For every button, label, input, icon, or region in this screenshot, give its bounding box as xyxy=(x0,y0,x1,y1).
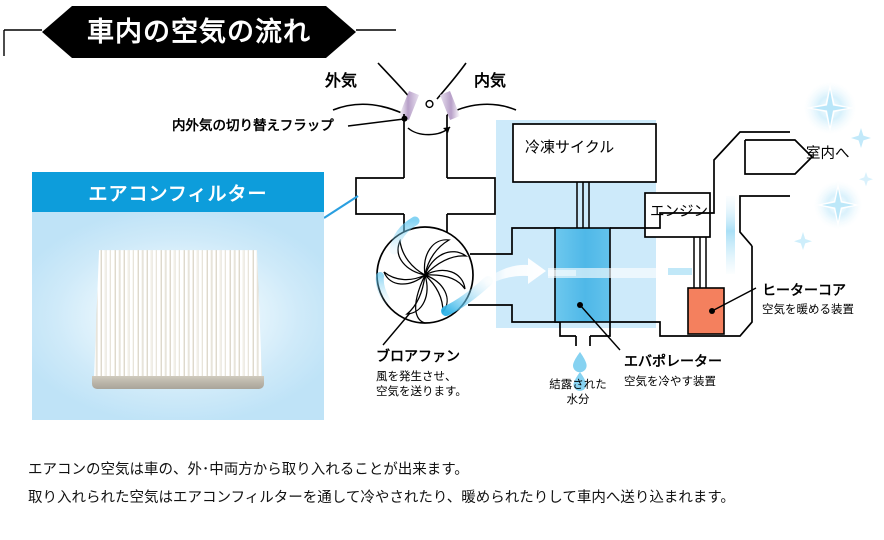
title-banner: 車内の空気の流れ xyxy=(42,6,356,58)
airflow-mark-heater xyxy=(668,268,692,275)
leader-flap xyxy=(348,119,404,126)
sparkle-icon-mini xyxy=(859,172,873,186)
caption-block: エアコンの空気は車の、外･中両方から取り入れることが出来ます。 取り入れられた空… xyxy=(28,456,868,513)
label-evaporator-description: 空気を冷やす装置 xyxy=(624,374,716,389)
sparkle-cluster xyxy=(794,82,873,250)
caption-line-1: エアコンの空気は車の、外･中両方から取り入れることが出来ます。 xyxy=(28,456,868,484)
hvac-housing xyxy=(356,114,495,236)
heater-core-body xyxy=(688,288,724,334)
label-evaporator: エバポレーター xyxy=(624,353,722,371)
page-title: 車内の空気の流れ xyxy=(87,19,311,46)
sparkle-icon-large-bottom xyxy=(814,181,862,229)
filter-frame-edge xyxy=(92,376,264,389)
filter-element-image xyxy=(94,250,262,390)
sparkle-icon-large-top xyxy=(804,82,856,134)
cabin-outlet-vents xyxy=(745,140,812,174)
flap-inside-air xyxy=(440,91,460,120)
sparkle-icon-small-top xyxy=(851,128,871,148)
intake-flaps xyxy=(399,91,460,135)
air-filter-photo xyxy=(32,212,324,420)
label-outside-air: 外気 xyxy=(325,70,357,91)
diagram-stage: 車内の空気の流れ エアコンフィルター 外気 内気 内外気の切り替えフラップ 冷凍… xyxy=(0,0,884,540)
condensate-line-2: 水分 xyxy=(567,392,590,406)
label-intake-flap: 内外気の切り替えフラップ xyxy=(172,118,334,136)
label-heater-core: ヒーターコア xyxy=(762,282,846,300)
leader-filter-callout xyxy=(324,196,358,218)
label-blower-fan: ブロアファン xyxy=(376,348,460,366)
label-heater-core-description: 空気を暖める装置 xyxy=(762,302,854,317)
blower-desc-line-2: 空気を送ります。 xyxy=(376,384,467,398)
sparkle-icon-small-bottom xyxy=(794,232,812,250)
air-filter-card-title: エアコンフィルター xyxy=(88,179,267,206)
label-engine: エンジン xyxy=(650,203,708,222)
airflow-stream-to-cabin xyxy=(726,196,735,274)
label-refrigeration-cycle: 冷凍サイクル xyxy=(525,138,614,158)
air-filter-card-header: エアコンフィルター xyxy=(32,172,324,212)
filter-pleats xyxy=(94,250,262,378)
label-inside-air: 内気 xyxy=(474,70,506,91)
condensate-line-1: 結露された xyxy=(549,377,607,391)
label-cabin-outlet: 室内へ xyxy=(806,145,850,164)
flap-outside-air xyxy=(399,91,419,120)
blower-desc-line-1: 風を発生させ、 xyxy=(376,369,457,383)
heater-core-unit xyxy=(688,288,724,334)
flap-pivot xyxy=(426,101,433,108)
air-filter-card: エアコンフィルター xyxy=(32,172,324,420)
label-blower-fan-description: 風を発生させ、 空気を送ります。 xyxy=(376,369,467,399)
caption-line-2: 取り入れられた空気はエアコンフィルターを通して冷やされたり、暖められたりして車内… xyxy=(28,484,868,512)
label-condensate: 結露された 水分 xyxy=(536,377,620,407)
leader-blower xyxy=(383,313,410,345)
